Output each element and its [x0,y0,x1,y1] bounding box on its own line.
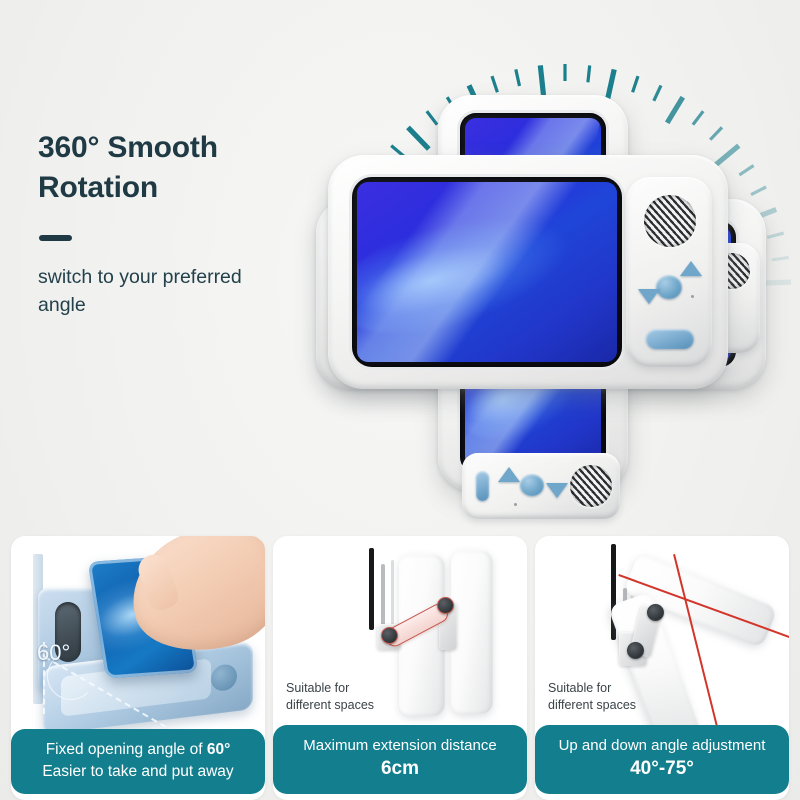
product-feature-image: 360° Smooth Rotation switch to your pref… [0,0,800,800]
caption-1-line-2: Easier to take and put away [19,761,257,783]
panel-3-hint: Suitable for different spaces [548,680,636,714]
wall-line-mid [381,564,385,630]
hint-3-line-2: different spaces [548,698,636,712]
caption-1-prefix: Fixed opening angle of [46,741,207,758]
indicator-dot-bottom [514,503,517,506]
pivot-upper [437,597,454,614]
caption-1-line-1: Fixed opening angle of 60° [46,741,231,758]
subtitle-line-1: switch to your preferred [38,266,242,288]
panel-2-hint: Suitable for different spaces [286,680,374,714]
arrow-up-button-main[interactable] [680,261,702,276]
subtitle-line-2: angle [38,294,86,316]
phone-screen-main [357,182,617,362]
panel-fixed-opening-angle[interactable]: 60° Fixed opening angle of 60° Easier to… [11,536,265,800]
tray-knob [211,663,237,692]
holder-slab-back [451,550,493,714]
panel-2-illustration: Suitable for different spaces [273,536,527,730]
panel-maximum-extension[interactable]: Suitable for different spaces Maximum ex… [273,536,527,800]
wall-line-light [391,560,394,630]
hint-2-line-1: Suitable for [286,681,349,695]
control-pod-bottom [462,453,620,519]
page-title: 360° Smooth Rotation [38,128,338,207]
holder-unit-main [328,155,728,389]
hint-3-line-1: Suitable for [548,681,611,695]
caption-2-line-2: 6cm [281,756,519,783]
mode-button-main[interactable] [646,329,694,349]
speaker-grille-bottom [570,465,612,507]
caption-3-line-2: 40°-75° [543,756,781,783]
product-render [310,95,800,525]
title-line-2: Rotation [38,171,158,204]
angle-badge-60: 60° [37,640,70,666]
pivot-lower [381,627,398,644]
arrow-down-button-main[interactable] [638,289,660,304]
title-line-1: 360° Smooth [38,131,218,164]
hero-subtitle: switch to your preferred angle [38,263,338,320]
panel-1-caption: Fixed opening angle of 60° Easier to tak… [11,729,265,794]
panel-up-down-angle[interactable]: Suitable for different spaces Up and dow… [535,536,789,800]
wall-line-dark [369,548,374,630]
caption-3-line-1: Up and down angle adjustment [543,735,781,756]
pivot-lower-3 [627,642,644,659]
caption-1-value: 60° [207,741,230,758]
phone-bezel-main [352,177,622,367]
feature-panel-row: 60° Fixed opening angle of 60° Easier to… [0,536,800,800]
hero-text-block: 360° Smooth Rotation switch to your pref… [38,128,338,320]
panel-1-illustration: 60° [11,536,265,730]
title-divider [39,235,72,241]
panel-3-caption: Up and down angle adjustment 40°-75° [535,725,789,794]
panel-2-caption: Maximum extension distance 6cm [273,725,527,794]
panel-3-illustration: Suitable for different spaces [535,536,789,730]
arrow-up-button-bottom[interactable] [498,467,520,482]
speaker-grille-main [644,195,696,247]
center-button-bottom[interactable] [520,474,544,496]
control-pod-main [626,177,712,367]
indicator-dot-main [691,295,694,298]
hint-2-line-2: different spaces [286,698,374,712]
pivot-upper-3 [647,604,664,621]
arrow-down-button-bottom[interactable] [546,483,568,498]
caption-2-line-1: Maximum extension distance [281,735,519,756]
mode-button-bottom[interactable] [476,471,489,501]
